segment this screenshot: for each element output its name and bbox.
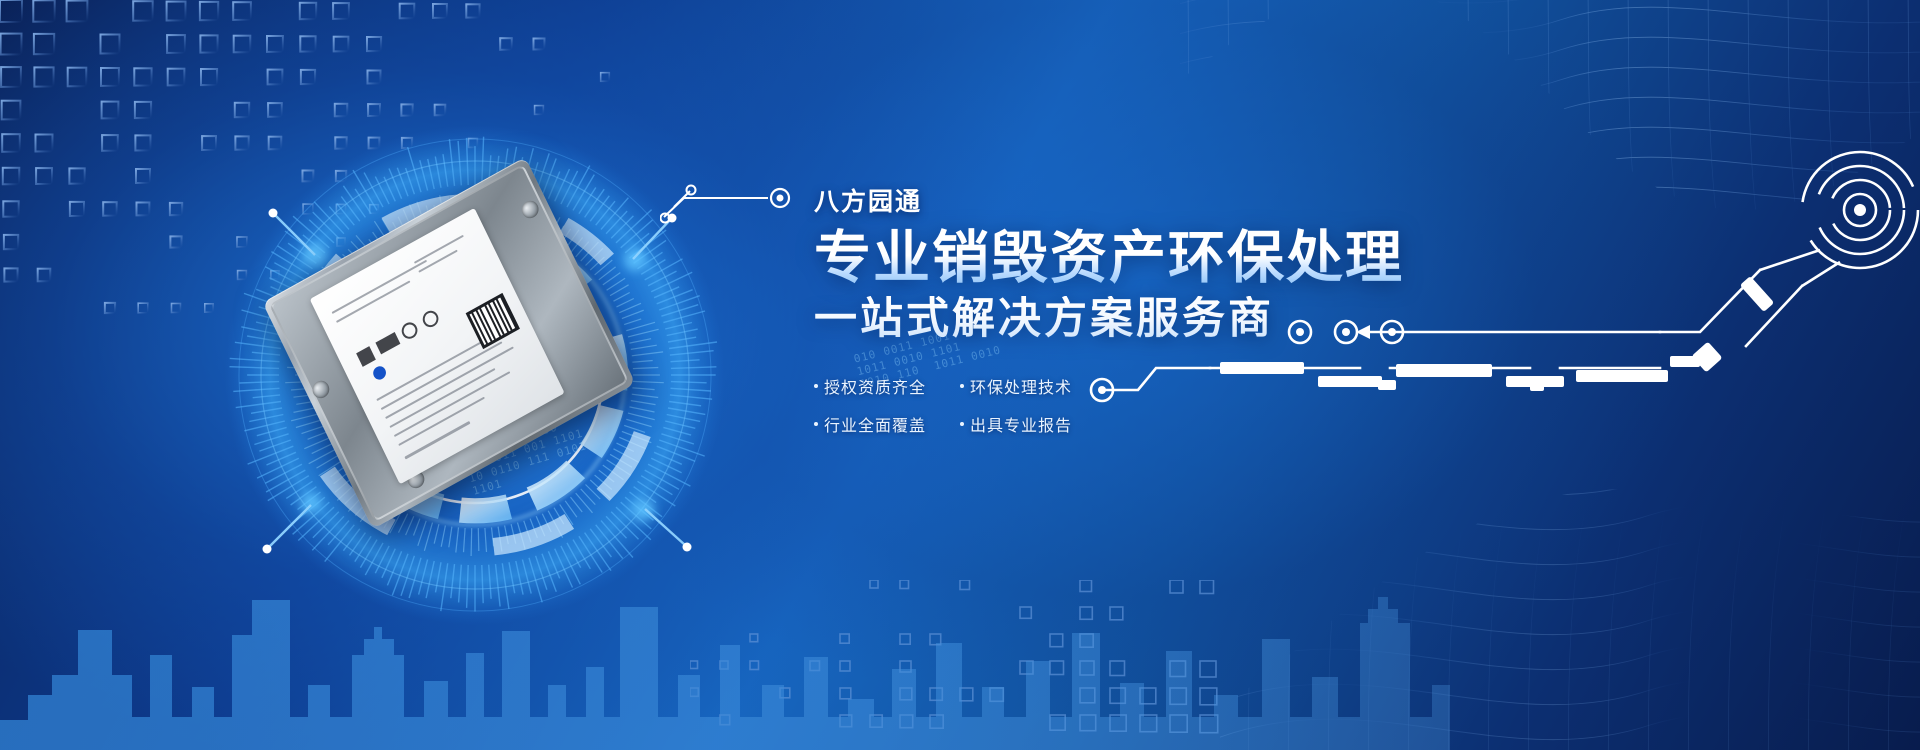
feature-label: 行业全面覆盖 — [824, 412, 926, 436]
bullet-dot-icon — [960, 384, 964, 388]
feature-label: 授权资质齐全 — [824, 374, 926, 398]
bullet-dot-icon — [814, 384, 818, 388]
feature-list: 授权资质齐全 环保处理技术 行业全面覆盖 出具专业报告 — [814, 374, 1474, 436]
page-subtitle: 一站式解决方案服务商 — [814, 296, 1474, 343]
hdd-barcode — [466, 293, 520, 349]
brand-name: 八方园通 — [814, 182, 1474, 218]
list-item: 授权资质齐全 — [814, 374, 942, 398]
bullet-dot-icon — [960, 422, 964, 426]
feature-label: 环保处理技术 — [970, 374, 1072, 398]
list-item: 出具专业报告 — [960, 412, 1088, 436]
feature-label: 出具专业报告 — [970, 412, 1072, 436]
promo-banner: 0010 1001 100 11 1011 001 1101 10 0110 1… — [0, 0, 1920, 750]
hdd-hud-graphic: 0010 1001 100 11 1011 001 1101 10 0110 1… — [165, 95, 805, 625]
page-title: 专业销毁资产环保处理 — [814, 228, 1474, 288]
banner-copy: 八方园通 专业销毁资产环保处理 一站式解决方案服务商 授权资质齐全 环保处理技术… — [814, 182, 1474, 436]
list-item: 环保处理技术 — [960, 374, 1088, 398]
bullet-dot-icon — [814, 422, 818, 426]
list-item: 行业全面覆盖 — [814, 412, 942, 436]
